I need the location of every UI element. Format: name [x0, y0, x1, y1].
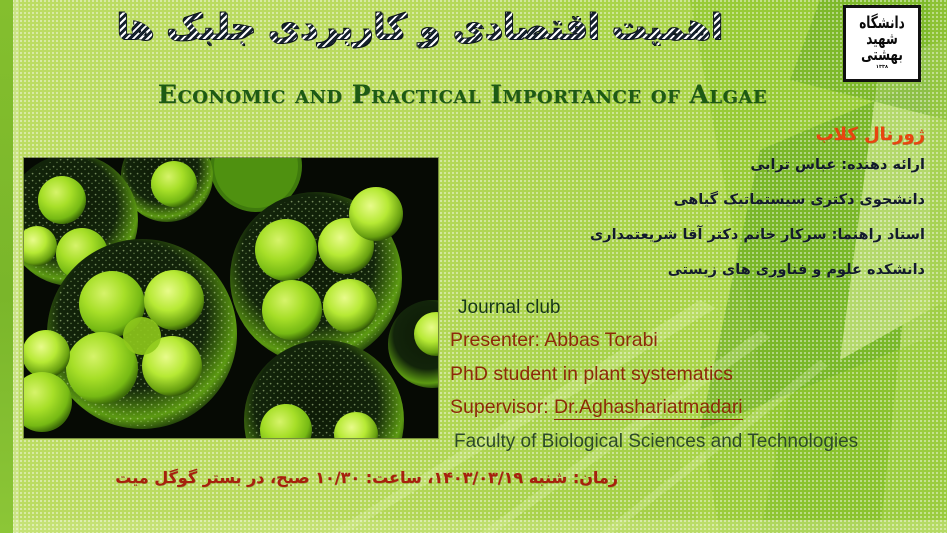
university-logo-year: ۱۳۳۸ — [846, 64, 918, 69]
persian-faculty-line: دانشکده علوم و فناوری های زیستی — [505, 262, 925, 278]
english-supervisor-line: Supervisor: Dr.Aghashariatmadari — [450, 398, 920, 418]
algae-photo — [24, 158, 438, 438]
university-logo-text: دانشگاه شهید بهشتی — [859, 13, 905, 65]
english-supervisor-prefix: Supervisor: — [450, 396, 554, 418]
persian-info-block: ژورنال کلاب ارائه دهنده: عباس ترابی دانش… — [505, 124, 925, 278]
english-info-block: Journal club Presenter: Abbas Torabi PhD… — [450, 298, 920, 451]
english-faculty-line: Faculty of Biological Sciences and Techn… — [450, 432, 920, 451]
english-title: Economic and Practical Importance of Alg… — [0, 80, 925, 109]
persian-datetime-line: زمان: شنبه ۱۴۰۳/۰۳/۱۹، ساعت: ۱۰/۳۰ صبح، … — [18, 468, 618, 487]
university-logo-mark: دانشگاه شهید بهشتی ۱۳۳۸ — [846, 14, 918, 73]
english-presenter-line: Presenter: Abbas Torabi — [450, 331, 920, 351]
english-student-line: PhD student in plant systematics — [450, 365, 920, 385]
persian-presenter-line: ارائه دهنده: عباس ترابی — [505, 157, 925, 173]
university-logo: دانشگاه شهید بهشتی ۱۳۳۸ — [843, 5, 921, 82]
persian-title: اهمیت اقتصادی و کاربردی جلبک ها — [0, 8, 840, 48]
persian-student-line: دانشجوی دکتری سیستماتیک گیاهی — [505, 192, 925, 208]
english-supervisor-name: Dr.Aghashariatmadari — [554, 396, 743, 420]
english-journal-club-label: Journal club — [450, 298, 920, 317]
persian-journal-club-label: ژورنال کلاب — [505, 124, 925, 145]
persian-supervisor-line: استاد راهنما: سرکار خانم دکتر آقا شریعتم… — [505, 227, 925, 243]
presentation-slide: دانشگاه شهید بهشتی ۱۳۳۸ اهمیت اقتصادی و … — [0, 0, 947, 533]
